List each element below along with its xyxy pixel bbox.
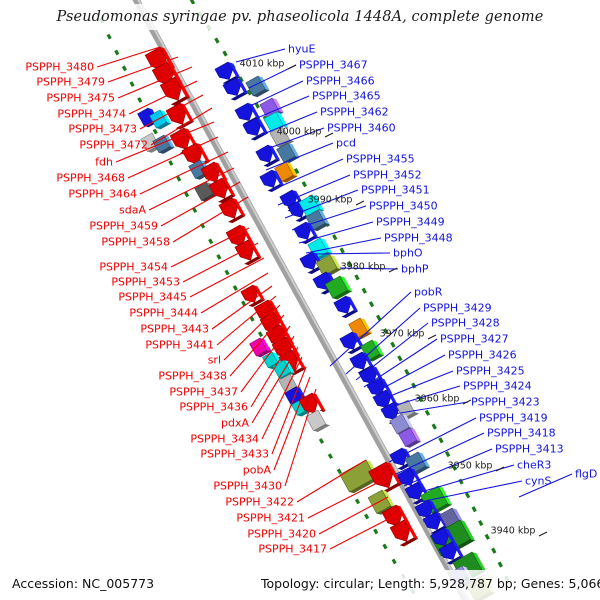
gene-label-reverse[interactable]: PSPPH_3467 <box>299 60 368 71</box>
trna-marker <box>123 66 125 70</box>
gene-label-reverse[interactable]: PSPPH_3462 <box>320 107 389 118</box>
scale-tick-mark <box>463 400 471 404</box>
scale-tick-mark <box>496 467 504 471</box>
scale-tick-label: 4000 kbp <box>277 127 322 138</box>
gene-label-forward[interactable]: PSPPH_3438 <box>158 371 227 382</box>
trna-marker <box>433 424 436 429</box>
gene-label-reverse[interactable]: PSPPH_3465 <box>312 91 381 102</box>
gene-label-reverse[interactable]: PSPPH_3448 <box>384 233 453 244</box>
trna-marker <box>329 454 331 458</box>
scale-tick-label: 4010 kbp <box>240 59 285 70</box>
trna-marker <box>116 50 118 54</box>
gene-label-forward[interactable]: PSPPH_3453 <box>111 277 180 288</box>
trna-marker <box>251 317 253 321</box>
trna-marker <box>193 208 195 212</box>
gene-label-forward[interactable]: PSPPH_3437 <box>169 387 238 398</box>
gene-label-reverse[interactable]: PSPPH_3466 <box>306 76 375 87</box>
scale-tick-label: 3950 kbp <box>448 461 493 472</box>
scale-tick-label: 3980 kbp <box>341 262 386 273</box>
scale-tick-label: 3960 kbp <box>415 394 460 405</box>
gene-label-forward[interactable]: pobA <box>243 465 271 476</box>
scale-tick-label: 3940 kbp <box>491 526 536 537</box>
trna-marker <box>178 177 180 181</box>
gene-label-forward[interactable]: fdh <box>95 157 113 168</box>
trna-marker <box>191 0 194 4</box>
gene-label-reverse[interactable]: PSPPH_3418 <box>487 428 556 439</box>
gene-label-reverse[interactable]: hyuE <box>288 44 315 55</box>
trna-marker <box>334 235 337 240</box>
trna-marker <box>365 514 367 518</box>
gene-label-reverse[interactable]: PSPPH_3428 <box>431 318 500 329</box>
trna-marker <box>384 544 386 548</box>
gene-label-forward[interactable]: srl <box>208 355 221 366</box>
trna-marker <box>426 411 429 416</box>
trna-marker <box>170 161 172 165</box>
trna-marker <box>256 103 259 108</box>
trna-marker <box>377 315 380 320</box>
gene-label-forward[interactable]: PSPPH_3464 <box>68 189 137 200</box>
trna-marker <box>303 182 306 187</box>
scale-tick-mark <box>428 335 436 339</box>
gene-label-reverse[interactable]: PSPPH_3426 <box>448 350 517 361</box>
gene-label-reverse[interactable]: PSPPH_3429 <box>423 303 492 314</box>
gene-label-reverse[interactable]: cynS <box>525 476 552 487</box>
gene-label-forward[interactable]: PSPPH_3472 <box>79 140 148 151</box>
trna-marker <box>399 356 402 361</box>
scale-tick-label: 3990 kbp <box>308 195 353 206</box>
gene-label-reverse[interactable]: PSPPH_3424 <box>463 381 532 392</box>
gene-label-reverse[interactable]: bphP <box>401 264 429 275</box>
trna-marker <box>210 239 212 243</box>
trna-marker <box>199 12 202 17</box>
trna-marker <box>440 438 443 443</box>
gene-label-forward[interactable]: PSPPH_3443 <box>140 324 209 335</box>
trna-marker <box>154 129 156 133</box>
trna-marker <box>370 302 373 307</box>
gene-label-reverse[interactable]: PSPPH_3419 <box>479 413 548 424</box>
gene-label-forward[interactable]: PSPPH_3479 <box>36 77 105 88</box>
accession-text: Accession: NC_005773 <box>12 576 154 591</box>
gene-label-reverse[interactable]: PSPPH_3425 <box>456 366 525 377</box>
status-bar: Accession: NC_005773 Topology: circular;… <box>0 570 600 600</box>
trna-marker <box>356 499 358 503</box>
scale-tick-mark <box>539 532 547 536</box>
gene-label-forward[interactable]: PSPPH_3441 <box>145 340 214 351</box>
trna-marker <box>338 469 340 473</box>
trna-marker <box>100 19 102 23</box>
trna-marker <box>356 275 359 280</box>
gene-label-forward[interactable]: PSPPH_3458 <box>101 237 170 248</box>
trna-marker <box>393 559 395 563</box>
gene-label-forward[interactable]: PSPPH_3480 <box>25 62 94 73</box>
trna-marker <box>406 370 409 375</box>
genome-map-viewer: Pseudomonas syringae pv. phaseolicola 14… <box>0 0 600 600</box>
trna-marker <box>224 51 227 56</box>
trna-marker <box>259 332 261 336</box>
gene-label-reverse[interactable]: pcd <box>336 138 356 149</box>
gene-label-reverse[interactable]: PSPPH_3455 <box>346 154 415 165</box>
scale-tick-mark <box>356 201 364 205</box>
trna-marker <box>218 255 220 259</box>
gene-label-reverse[interactable]: PSPPH_3427 <box>440 334 509 345</box>
trna-marker <box>473 507 476 512</box>
gene-label-forward[interactable]: sdaA <box>119 205 146 216</box>
gene-label-reverse[interactable]: cheR3 <box>517 460 551 471</box>
gene-label-forward[interactable]: PSPPH_3420 <box>247 529 316 540</box>
gene-label-forward[interactable]: PSPPH_3468 <box>56 173 125 184</box>
trna-marker <box>320 439 322 443</box>
trna-marker <box>216 38 219 43</box>
trna-marker <box>466 493 469 498</box>
gene-glyph-reverse[interactable] <box>223 76 248 102</box>
gene-label-forward[interactable]: PSPPH_3444 <box>129 308 198 319</box>
gene-label-forward[interactable]: PSPPH_3434 <box>190 434 259 445</box>
trna-marker <box>392 342 395 347</box>
gene-label-reverse[interactable]: PSPPH_3449 <box>376 217 445 228</box>
trna-marker <box>446 452 449 457</box>
trna-marker <box>493 548 496 553</box>
genome-diagram[interactable] <box>0 0 600 600</box>
trna-marker <box>226 270 228 274</box>
gene-label-forward[interactable]: PSPPH_3475 <box>46 93 115 104</box>
topology-text: Topology: circular; Length: 5,928,787 bp… <box>261 576 600 591</box>
gene-glyph-reverse[interactable] <box>256 143 280 168</box>
trna-marker <box>208 25 211 30</box>
trna-marker <box>131 82 133 86</box>
leader-line-forward <box>319 497 388 534</box>
trna-marker <box>375 529 377 533</box>
trna-marker <box>499 562 502 567</box>
gene-label-reverse[interactable]: PSPPH_3452 <box>353 170 422 181</box>
gene-label-forward[interactable]: PSPPH_3445 <box>118 292 187 303</box>
gene-label-reverse[interactable]: PSPPH_3460 <box>327 123 396 134</box>
scale-tick-label: 3970 kbp <box>380 329 425 340</box>
gene-label-forward[interactable]: PSPPH_3422 <box>225 497 294 508</box>
gene-label-reverse[interactable]: PSPPH_3450 <box>369 201 438 212</box>
scale-tick-mark <box>288 65 296 69</box>
gene-label-forward[interactable]: PSPPH_3454 <box>99 262 168 273</box>
trna-marker <box>295 169 298 174</box>
gene-label-forward[interactable]: PSPPH_3421 <box>236 513 305 524</box>
gene-label-forward[interactable]: PSPPH_3433 <box>200 449 269 460</box>
trna-marker <box>234 286 236 290</box>
trna-marker <box>486 535 489 540</box>
gene-label-forward[interactable]: PSPPH_3436 <box>179 402 248 413</box>
trna-marker <box>341 248 344 253</box>
trna-marker <box>242 301 244 305</box>
leader-line-forward <box>330 513 400 549</box>
trna-marker <box>108 35 110 39</box>
gene-label-forward[interactable]: PSPPH_3474 <box>57 109 126 120</box>
gene-label-reverse[interactable]: flgD <box>575 469 597 480</box>
gene-label-reverse[interactable]: bphO <box>393 248 423 259</box>
trna-marker <box>479 521 482 526</box>
trna-marker <box>139 98 141 102</box>
gene-label-reverse[interactable]: PSPPH_3451 <box>361 185 430 196</box>
gene-label-forward[interactable]: PSPPH_3459 <box>89 221 158 232</box>
trna-marker <box>185 192 187 196</box>
gene-label-reverse[interactable]: PSPPH_3413 <box>495 444 564 455</box>
gene-label-reverse[interactable]: PSPPH_3423 <box>471 397 540 408</box>
gene-label-reverse[interactable]: pobR <box>414 287 442 298</box>
trna-marker <box>363 288 366 293</box>
gene-label-forward[interactable]: pdxA <box>221 418 249 429</box>
gene-label-forward[interactable]: PSPPH_3473 <box>68 124 137 135</box>
gene-label-forward[interactable]: PSPPH_3430 <box>213 481 282 492</box>
gene-label-forward[interactable]: PSPPH_3417 <box>258 544 327 555</box>
